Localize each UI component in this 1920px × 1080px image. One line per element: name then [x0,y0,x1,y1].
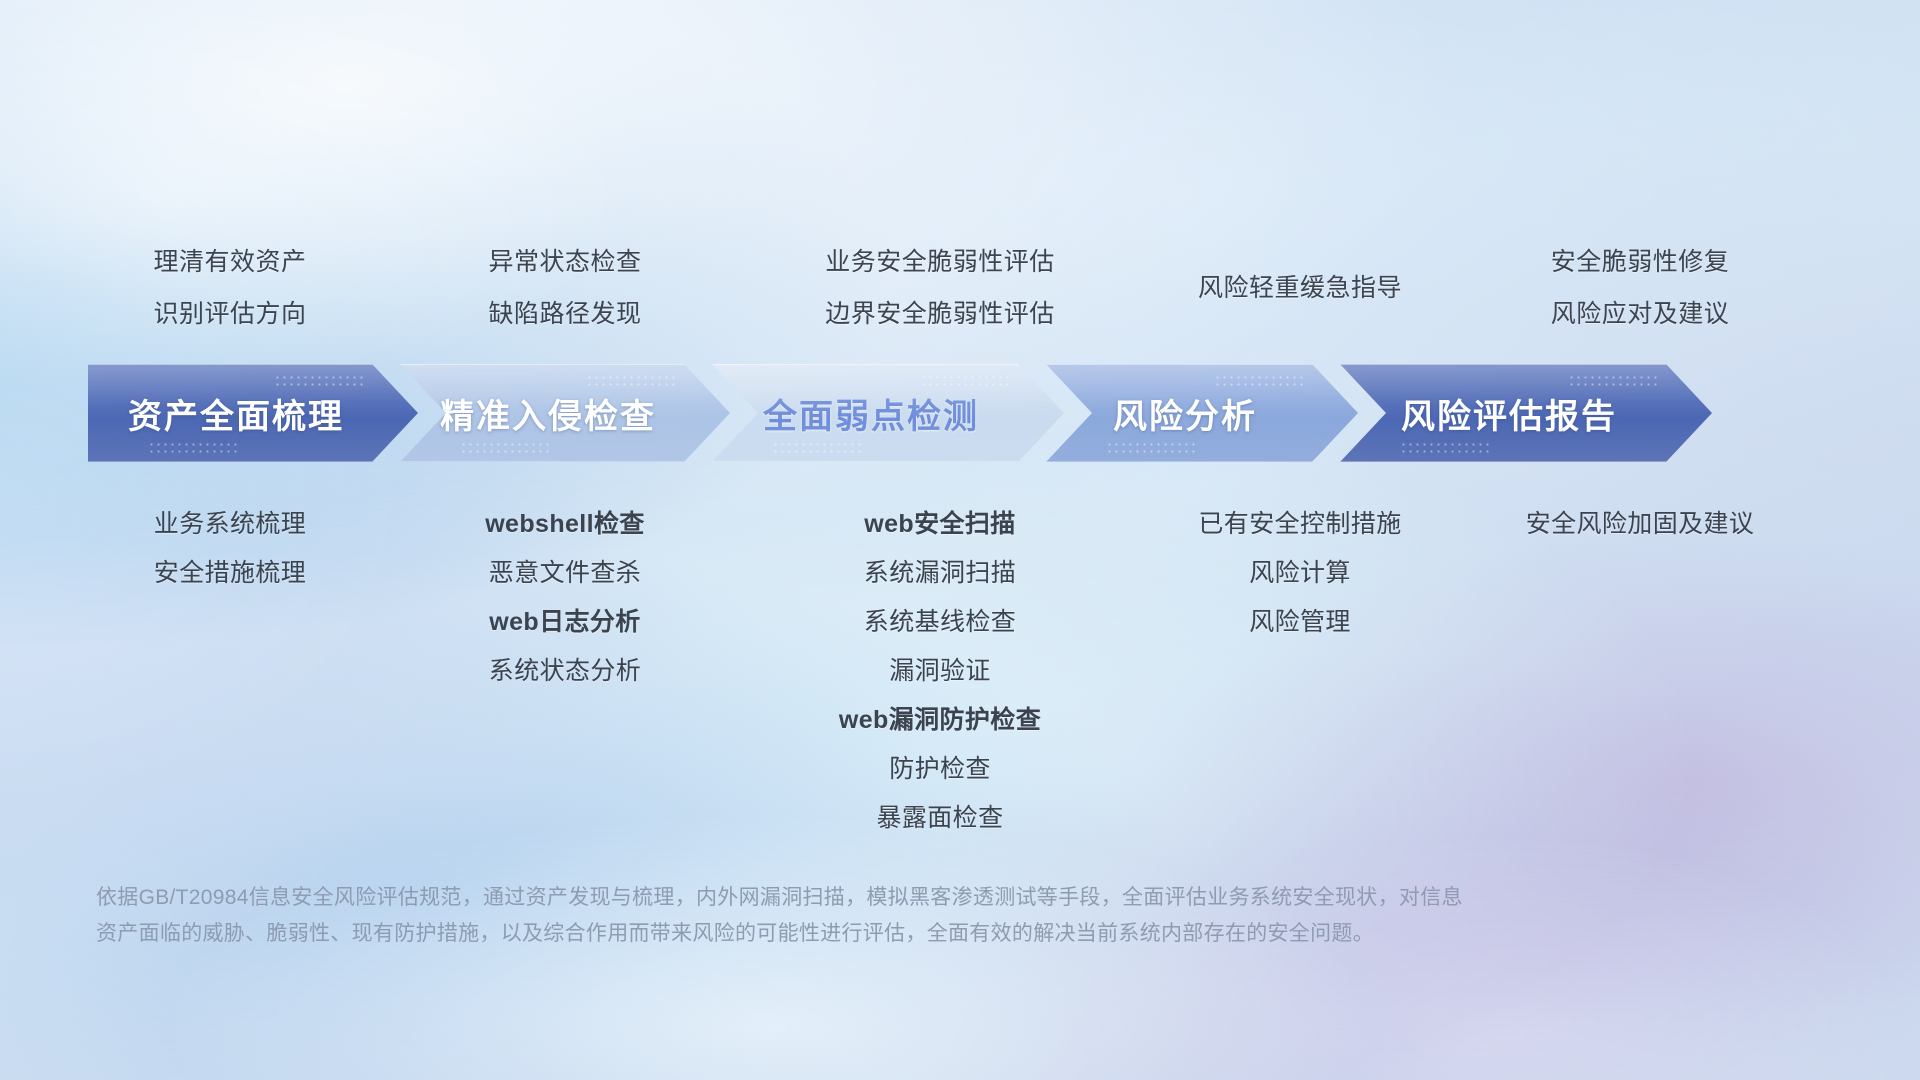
bottom-item: web安全扫描 [864,500,1015,549]
top-item: 风险应对及建议 [1551,288,1730,340]
top-item: 边界安全脆弱性评估 [825,288,1055,340]
chevron-dot-texture [586,374,676,386]
stage-chevron-assessment-report[interactable]: 风险评估报告 [1340,364,1712,462]
top-item: 安全脆弱性修复 [1551,236,1730,288]
chevron-dot-texture [1214,374,1304,386]
bottom-item: 防护检查 [889,745,991,794]
bottom-item: 系统基线检查 [864,598,1016,647]
process-diagram: 理清有效资产识别评估方向异常状态检查缺陷路径发现业务安全脆弱性评估边界安全脆弱性… [0,0,1920,1080]
top-item: 识别评估方向 [153,288,306,340]
chevron-dot-texture-lower [772,441,862,453]
top-item: 业务安全脆弱性评估 [825,236,1055,288]
stage-chevron-risk-analysis[interactable]: 风险分析 [1046,364,1358,462]
bottom-item: 系统状态分析 [489,647,641,696]
footer-description: 依据GB/T20984信息安全风险评估规范，通过资产发现与梳理，内外网漏洞扫描，… [96,880,1656,952]
chevron-dot-texture-lower [1400,441,1490,453]
top-item: 异常状态检查 [488,236,641,288]
chevron-dot-texture-lower [460,441,550,453]
stage-label-assessment-report: 风险评估报告 [1401,389,1617,438]
stage-chevron-intrusion-check[interactable]: 精准入侵检查 [400,364,730,462]
bottom-item: 业务系统梳理 [154,500,306,549]
stage-chevron-weakness-detection[interactable]: 全面弱点检测 [712,364,1064,462]
stage-chevron-asset-inventory[interactable]: 资产全面梳理 [88,364,418,462]
top-item: 缺陷路径发现 [488,288,641,340]
chevron-dot-texture-lower [1106,441,1196,453]
bottom-item: 漏洞验证 [889,647,991,696]
chevron-dot-texture-lower [148,441,238,453]
bottom-item: 安全措施梳理 [154,549,306,598]
chevron-dot-texture [1568,374,1658,386]
bottom-item: 风险管理 [1249,598,1351,647]
bottom-item: 安全风险加固及建议 [1526,500,1755,549]
chevron-dot-texture [920,374,1010,386]
bottom-item: 已有安全控制措施 [1198,500,1401,549]
bottom-items-assessment-report: 安全风险加固及建议 [1380,500,1900,549]
bottom-item: 暴露面检查 [876,794,1003,843]
stage-label-weakness-detection: 全面弱点检测 [763,389,979,438]
footer-line-1: 依据GB/T20984信息安全风险评估规范，通过资产发现与梳理，内外网漏洞扫描，… [96,880,1656,916]
stage-label-risk-analysis: 风险分析 [1113,389,1257,438]
top-items-assessment-report: 安全脆弱性修复风险应对及建议 [1380,236,1900,340]
stage-label-intrusion-check: 精准入侵检查 [440,389,656,438]
bottom-item: webshell检查 [485,500,645,549]
bottom-item: web漏洞防护检查 [839,696,1041,745]
footer-line-2: 资产面临的威胁、脆弱性、现有防护措施，以及综合作用而带来风险的可能性进行评估，全… [96,916,1656,952]
top-item: 风险轻重缓急指导 [1198,262,1402,314]
bottom-item: web日志分析 [489,598,640,647]
chevron-dot-texture [274,374,364,386]
bottom-item: 风险计算 [1249,549,1351,598]
bottom-item: 恶意文件查杀 [489,549,641,598]
bottom-item: 系统漏洞扫描 [864,549,1016,598]
stage-banner: 资产全面梳理精准入侵检查全面弱点检测风险分析风险评估报告 [0,364,1920,462]
stage-label-asset-inventory: 资产全面梳理 [128,389,344,438]
top-item: 理清有效资产 [153,236,306,288]
